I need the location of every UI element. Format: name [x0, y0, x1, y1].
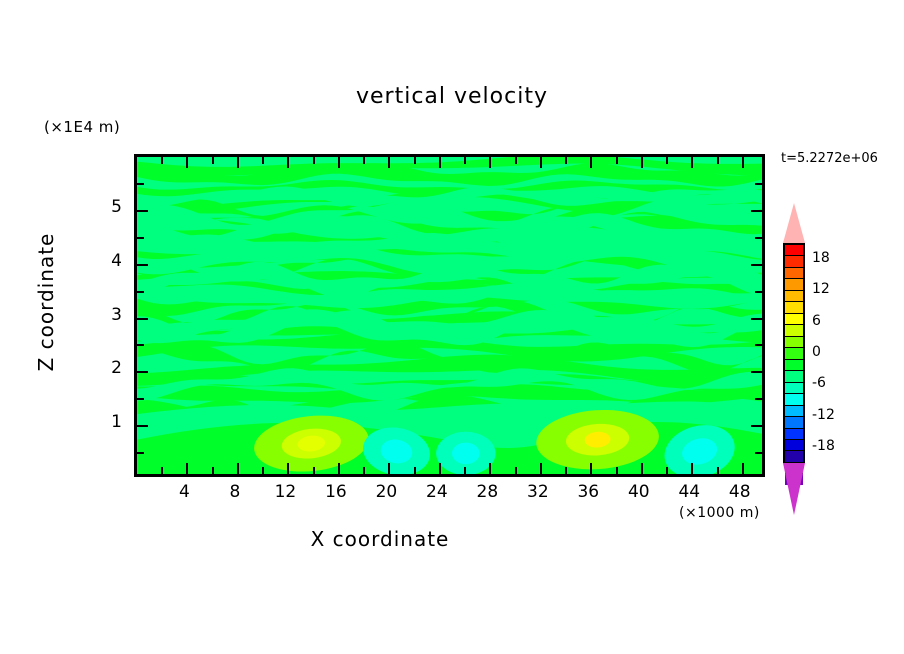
y-tick	[137, 318, 148, 320]
x-tick-top	[338, 157, 340, 168]
y-tick-right	[755, 452, 762, 454]
colorbar-band	[785, 360, 803, 371]
x-tick-top	[262, 157, 264, 164]
x-tick	[414, 467, 416, 474]
colorbar-band	[785, 291, 803, 302]
colorbar-band	[785, 245, 803, 256]
y-tick-right	[751, 210, 762, 212]
x-tick-top	[616, 157, 618, 164]
colorbar-band	[785, 394, 803, 405]
colorbar-band	[785, 371, 803, 382]
y-tick-right	[755, 398, 762, 400]
y-tick-right	[755, 237, 762, 239]
colorbar-band	[785, 302, 803, 313]
y-tick	[137, 264, 148, 266]
colorbar-under-arrow	[783, 463, 805, 515]
x-tick-label: 32	[518, 482, 558, 502]
y-tick-right	[755, 183, 762, 185]
x-tick-label: 28	[467, 482, 507, 502]
x-tick	[742, 463, 744, 474]
colorbar-band	[785, 383, 803, 394]
colorbar-band	[785, 406, 803, 417]
x-tick-top	[161, 157, 163, 164]
x-tick-label: 16	[316, 482, 356, 502]
x-tick	[691, 463, 693, 474]
colorbar-tick-label: -6	[812, 375, 826, 391]
colorbar	[783, 243, 805, 463]
y-tick	[137, 425, 148, 427]
colorbar-band	[785, 440, 803, 451]
y-tick-right	[751, 264, 762, 266]
colorbar-band	[785, 314, 803, 325]
x-tick-label: 12	[265, 482, 305, 502]
x-tick-top	[666, 157, 668, 164]
x-tick-top	[414, 157, 416, 164]
x-tick-top	[313, 157, 315, 164]
colorbar-band	[785, 429, 803, 440]
x-tick	[616, 467, 618, 474]
x-tick-label: 20	[366, 482, 406, 502]
x-tick-top	[464, 157, 466, 164]
velocity-field	[137, 157, 762, 474]
x-tick	[641, 463, 643, 474]
y-axis-title: Z coordinate	[34, 192, 58, 412]
colorbar-tick-label: 6	[812, 313, 821, 329]
x-tick-label: 24	[417, 482, 457, 502]
contour-plot-area	[134, 154, 765, 477]
x-tick-top	[641, 157, 643, 168]
colorbar-band	[785, 325, 803, 336]
chart-title: vertical velocity	[0, 84, 904, 109]
colorbar-tick-label: 18	[812, 250, 830, 266]
x-tick-label: 48	[720, 482, 760, 502]
x-tick	[313, 467, 315, 474]
y-tick	[137, 452, 144, 454]
y-tick-label: 4	[98, 251, 122, 271]
y-tick	[137, 237, 144, 239]
y-tick	[137, 183, 144, 185]
x-tick-top	[237, 157, 239, 168]
x-tick-top	[717, 157, 719, 164]
x-tick	[540, 463, 542, 474]
y-tick-right	[751, 371, 762, 373]
contour-cell	[452, 443, 480, 465]
x-tick-top	[691, 157, 693, 168]
y-tick-right	[755, 344, 762, 346]
y-tick	[137, 371, 148, 373]
x-tick-top	[742, 157, 744, 168]
x-tick-top	[540, 157, 542, 168]
y-axis-unit-label: (×1E4 m)	[44, 118, 120, 136]
x-tick-top	[489, 157, 491, 168]
x-tick-top	[565, 157, 567, 164]
y-tick-label: 2	[98, 358, 122, 378]
colorbar-band	[785, 337, 803, 348]
y-tick-right	[751, 318, 762, 320]
x-tick	[439, 463, 441, 474]
colorbar-band	[785, 417, 803, 428]
x-axis-title: X coordinate	[0, 527, 760, 551]
x-tick-label: 36	[568, 482, 608, 502]
y-tick-right	[751, 425, 762, 427]
y-tick-label: 3	[98, 305, 122, 325]
x-tick	[338, 463, 340, 474]
x-axis-unit-label: (×1000 m)	[679, 505, 760, 521]
x-tick-top	[287, 157, 289, 168]
x-tick-label: 4	[164, 482, 204, 502]
x-tick-label: 44	[669, 482, 709, 502]
y-tick-label: 1	[98, 412, 122, 432]
colorbar-band	[785, 451, 803, 462]
x-tick	[388, 463, 390, 474]
x-tick-label: 8	[215, 482, 255, 502]
x-tick	[262, 467, 264, 474]
x-tick	[186, 463, 188, 474]
x-tick	[161, 467, 163, 474]
x-tick	[565, 467, 567, 474]
colorbar-tick-label: -12	[812, 407, 835, 423]
x-tick	[590, 463, 592, 474]
y-tick	[137, 398, 144, 400]
x-tick	[717, 467, 719, 474]
colorbar-band	[785, 348, 803, 359]
colorbar-tick-label: -18	[812, 438, 835, 454]
y-tick-label: 5	[98, 197, 122, 217]
colorbar-band	[785, 279, 803, 290]
x-tick-top	[363, 157, 365, 164]
timestamp-label: t=5.2272e+06	[781, 151, 878, 166]
colorbar-band	[785, 268, 803, 279]
x-tick-top	[515, 157, 517, 164]
colorbar-band	[785, 256, 803, 267]
x-tick-label: 40	[619, 482, 659, 502]
x-tick-top	[439, 157, 441, 168]
x-tick	[666, 467, 668, 474]
x-tick-top	[388, 157, 390, 168]
colorbar-tick-label: 0	[812, 344, 821, 360]
x-tick	[363, 467, 365, 474]
y-tick-right	[755, 291, 762, 293]
x-tick	[212, 467, 214, 474]
x-tick	[515, 467, 517, 474]
colorbar-tick-label: 12	[812, 281, 830, 297]
colorbar-over-arrow	[783, 203, 805, 243]
x-tick-top	[212, 157, 214, 164]
x-tick	[237, 463, 239, 474]
x-tick-top	[186, 157, 188, 168]
y-tick	[137, 291, 144, 293]
x-tick	[287, 463, 289, 474]
y-tick	[137, 344, 144, 346]
y-tick	[137, 210, 148, 212]
x-tick	[489, 463, 491, 474]
x-tick	[464, 467, 466, 474]
x-tick-top	[590, 157, 592, 168]
